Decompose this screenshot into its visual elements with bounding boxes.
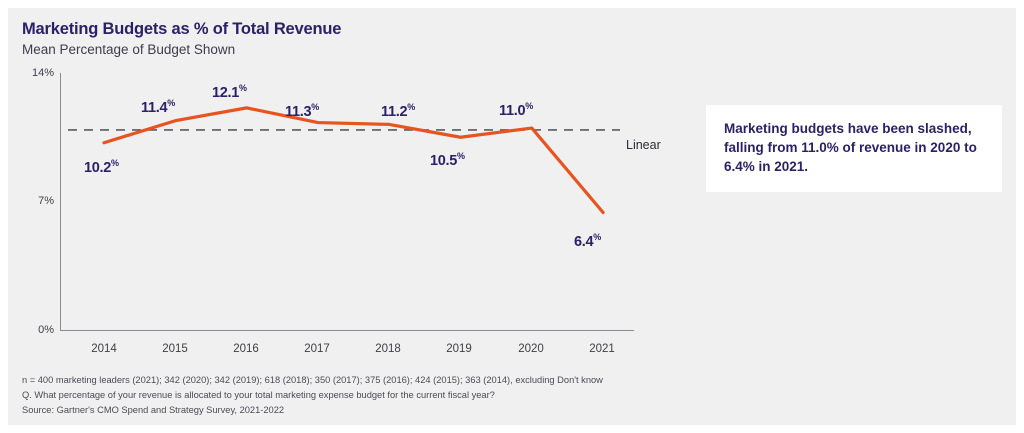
- line-chart: 14% 7% 0% 2014 2015 2016 2017 2018 2019 …: [8, 8, 1016, 425]
- x-tick-2014: 2014: [74, 343, 134, 355]
- x-tick-2017: 2017: [287, 343, 347, 355]
- x-tick-2020: 2020: [501, 343, 561, 355]
- y-tick-14: 14%: [14, 67, 54, 79]
- insight-callout-text: Marketing budgets have been slashed, fal…: [724, 119, 984, 176]
- x-axis-line: [60, 330, 634, 331]
- chart-card: Marketing Budgets as % of Total Revenue …: [8, 8, 1016, 425]
- footnote-source: Source: Gartner's CMO Spend and Strategy…: [22, 403, 722, 418]
- data-label-2019: 10.5%: [430, 151, 465, 169]
- data-label-2018: 11.2%: [381, 102, 415, 120]
- footnote-sample-size: n = 400 marketing leaders (2021); 342 (2…: [22, 373, 722, 388]
- y-axis-line: [60, 73, 61, 330]
- x-tick-2021: 2021: [572, 343, 632, 355]
- x-tick-2015: 2015: [145, 343, 205, 355]
- data-label-2017: 11.3%: [285, 102, 319, 120]
- y-tick-7: 7%: [14, 195, 54, 207]
- data-label-2015: 11.4%: [141, 98, 175, 116]
- series-svg: [8, 8, 1016, 425]
- x-tick-2016: 2016: [216, 343, 276, 355]
- x-tick-2019: 2019: [429, 343, 489, 355]
- data-label-2020: 11.0%: [499, 101, 533, 119]
- data-label-2021: 6.4%: [574, 232, 601, 250]
- insight-callout: Marketing budgets have been slashed, fal…: [706, 105, 1002, 192]
- footnote-question: Q. What percentage of your revenue is al…: [22, 388, 722, 403]
- reference-line-label: Linear: [626, 138, 661, 152]
- x-tick-2018: 2018: [358, 343, 418, 355]
- footnotes: n = 400 marketing leaders (2021); 342 (2…: [22, 373, 722, 418]
- data-label-2016: 12.1%: [212, 83, 247, 101]
- data-label-2014: 10.2%: [84, 158, 119, 176]
- y-tick-0: 0%: [14, 324, 54, 336]
